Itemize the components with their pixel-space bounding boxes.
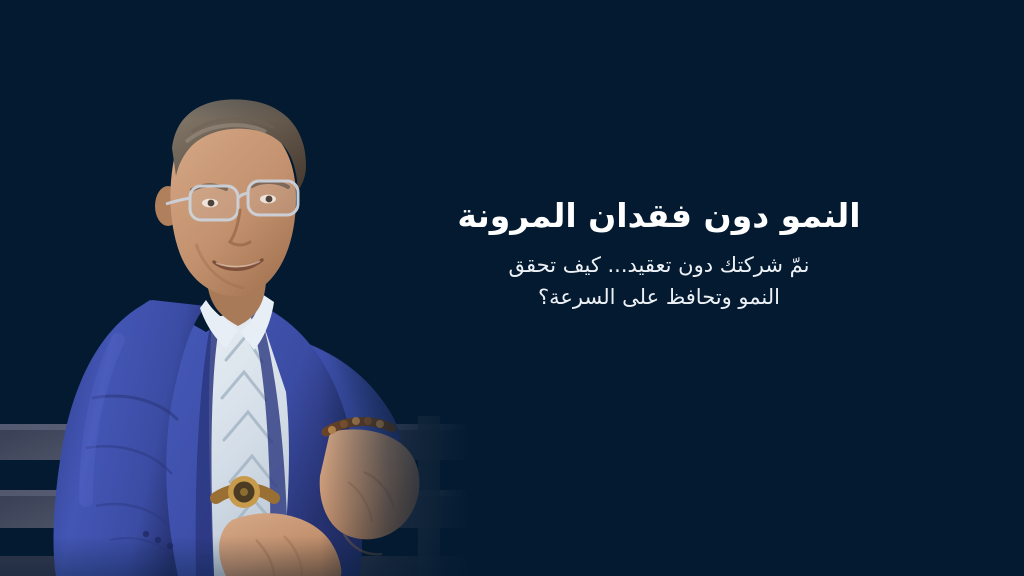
subheadline-line-2: النمو وتحافظ على السرعة؟ <box>538 285 780 309</box>
subheadline-line-1: نمّ شركتك دون تعقيد... كيف تحقق <box>509 253 810 277</box>
speaker-photo <box>0 0 470 576</box>
speaker-photo-illustration <box>0 0 470 576</box>
subheadline: نمّ شركتك دون تعقيد... كيف تحقق النمو وت… <box>444 250 874 314</box>
headline-block: النمو دون فقدان المرونة نمّ شركتك دون تع… <box>444 196 874 314</box>
thumbnail-slide: النمو دون فقدان المرونة نمّ شركتك دون تع… <box>0 0 1024 576</box>
headline: النمو دون فقدان المرونة <box>444 196 874 236</box>
